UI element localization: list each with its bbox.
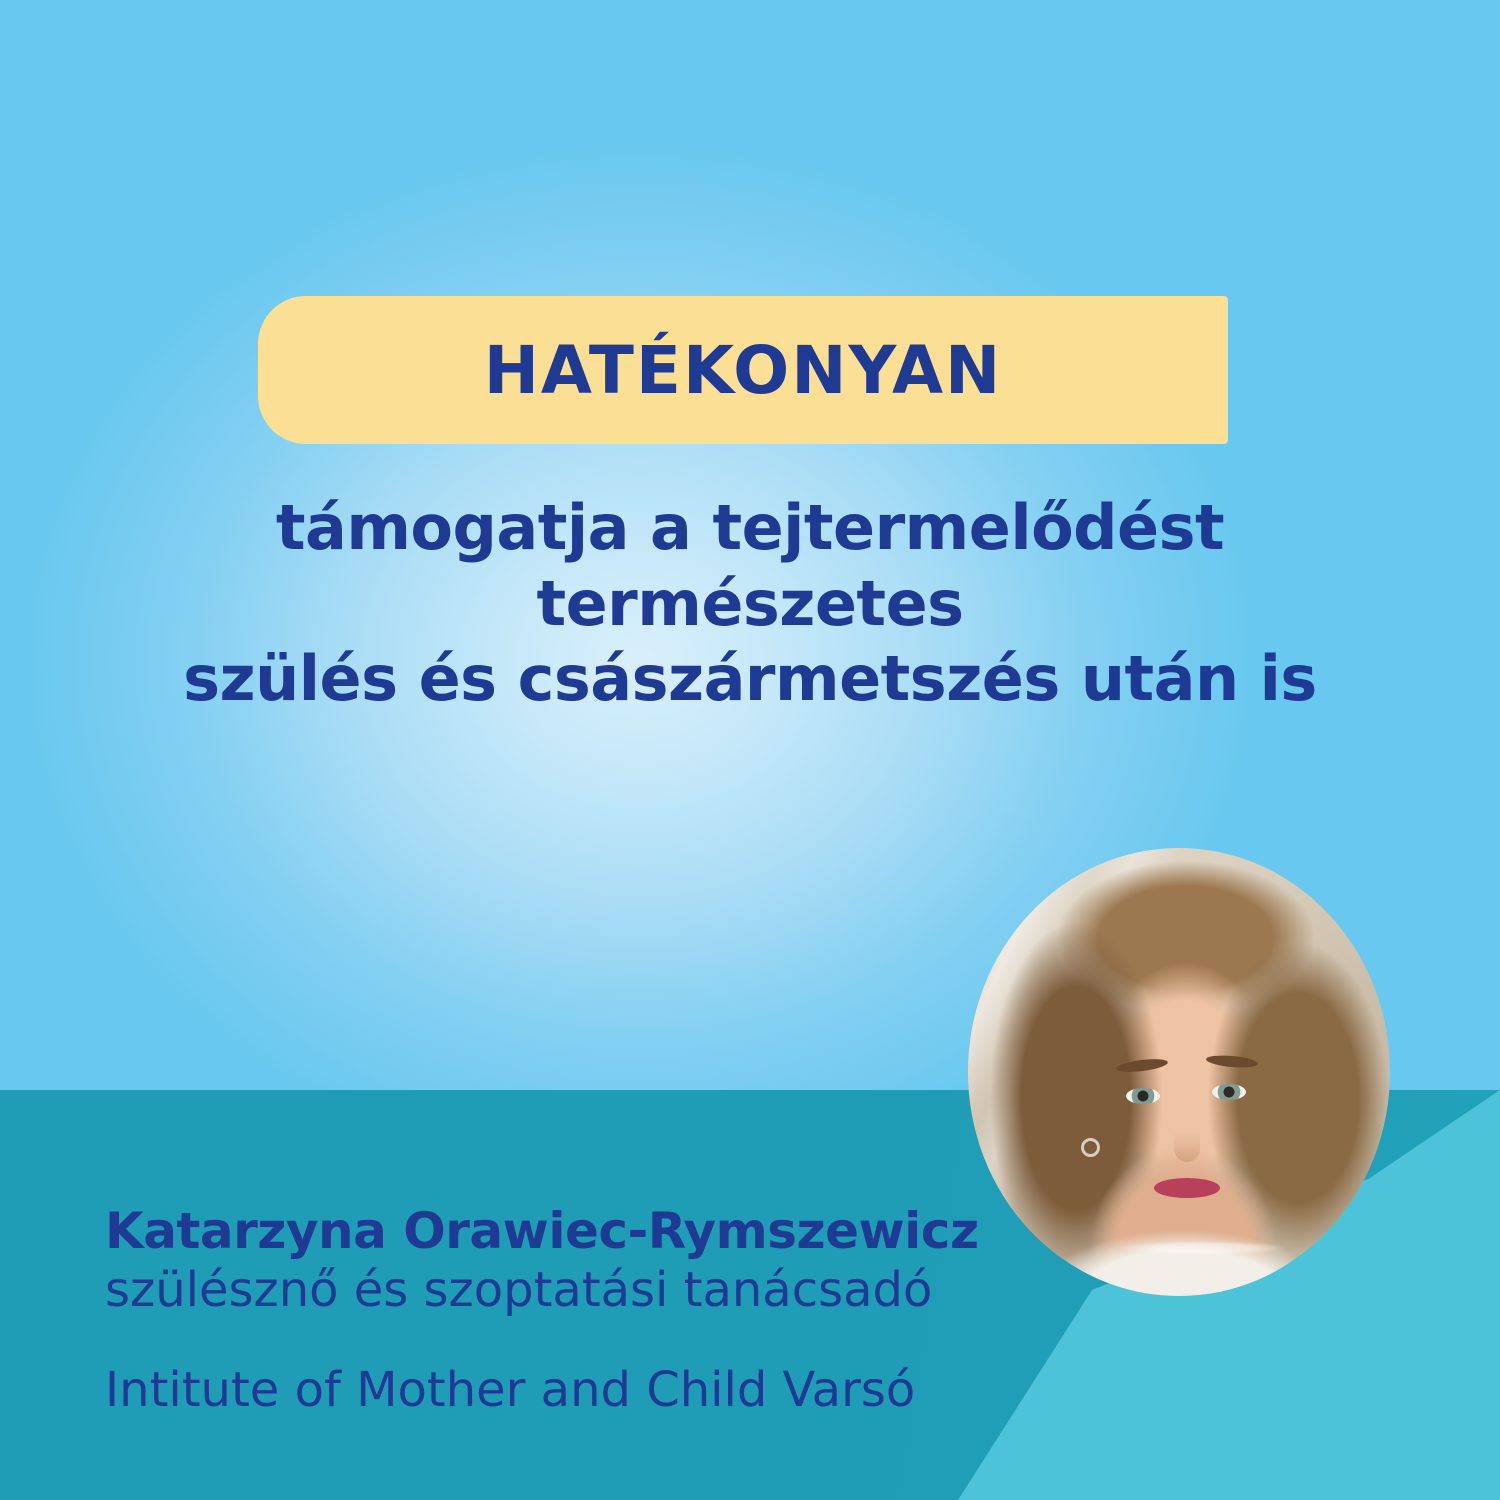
headline-badge: HATÉKONYAN	[258, 296, 1228, 444]
speaker-role: szülésznő és szoptatási tanácsadó	[105, 1260, 1025, 1320]
portrait-eye-left	[1126, 1088, 1160, 1104]
portrait-earring	[1081, 1138, 1100, 1157]
portrait-eye-right	[1212, 1084, 1246, 1100]
portrait-photo	[968, 848, 1390, 1296]
promo-poster: HATÉKONYAN támogatja a tejtermelődést te…	[0, 0, 1500, 1500]
speaker-organization: Intitute of Mother and Child Varsó	[105, 1362, 1025, 1420]
headline-line-1: támogatja a tejtermelődést természetes	[60, 490, 1440, 641]
portrait-mouth	[1154, 1178, 1220, 1198]
speaker-credit: Katarzyna Orawiec-Rymszewicz szülésznő é…	[105, 1205, 1025, 1420]
avatar	[968, 848, 1390, 1296]
page-title: támogatja a tejtermelődést természetes s…	[60, 490, 1440, 717]
headline-line-2: szülés és császármetszés után is	[60, 641, 1440, 717]
portrait-nose	[1174, 1116, 1200, 1162]
headline-badge-label: HATÉKONYAN	[484, 332, 1003, 409]
speaker-name: Katarzyna Orawiec-Rymszewicz	[105, 1205, 1025, 1258]
